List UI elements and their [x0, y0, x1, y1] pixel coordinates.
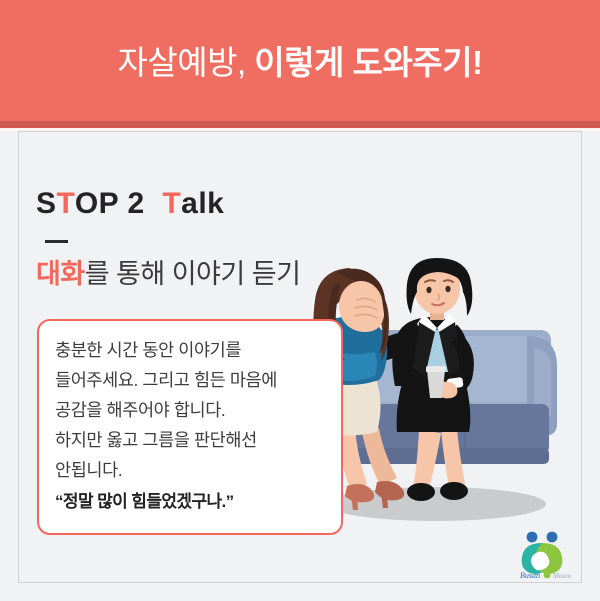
page-title: 자살예방, 이렇게 도와주기! [118, 36, 483, 84]
page-title-light: 자살예방, [118, 44, 246, 81]
heading-op-number: OP 2 [75, 187, 145, 220]
header-underbar [0, 121, 600, 128]
advice-line: 안됩니다. [55, 455, 325, 485]
heading-s: S [36, 187, 57, 220]
heading-divider-dash [45, 240, 68, 243]
logo-text-sub: Maum [552, 572, 571, 580]
heading-t-accent: T [57, 187, 75, 220]
advice-quote: “정말 많이 힘들었겠구나.” [55, 487, 325, 517]
advice-line: 공감을 해주어야 합니다. [55, 395, 325, 425]
advice-line: 하지만 옳고 그름을 판단해선 [55, 425, 325, 455]
page-header: 자살예방, 이렇게 도와주기! [0, 0, 600, 121]
advice-line: 들어주세요. 그리고 힘든 마음에 [55, 365, 325, 395]
logo-text-main: Busan [520, 571, 540, 580]
section-subheading: 대화를 통해 이야기 듣기 [36, 252, 300, 291]
heading-talk-rest: alk [181, 187, 224, 220]
heading-talk-t: T [162, 187, 181, 220]
busan-maum-logo: Busan Maum [506, 529, 578, 581]
section-heading: STOP 2 Talk [36, 187, 224, 221]
subheading-rest: 를 통해 이야기 듣기 [85, 259, 301, 289]
subheading-accent: 대화 [36, 259, 85, 289]
advice-textbox: 충분한 시간 동안 이야기를 들어주세요. 그리고 힘든 마음에 공감을 해주어… [37, 319, 343, 535]
advice-line: 충분한 시간 동안 이야기를 [55, 335, 325, 365]
content-card: STOP 2 Talk 대화를 통해 이야기 듣기 [18, 131, 582, 583]
page-title-bold: 이렇게 도와주기! [254, 44, 482, 81]
